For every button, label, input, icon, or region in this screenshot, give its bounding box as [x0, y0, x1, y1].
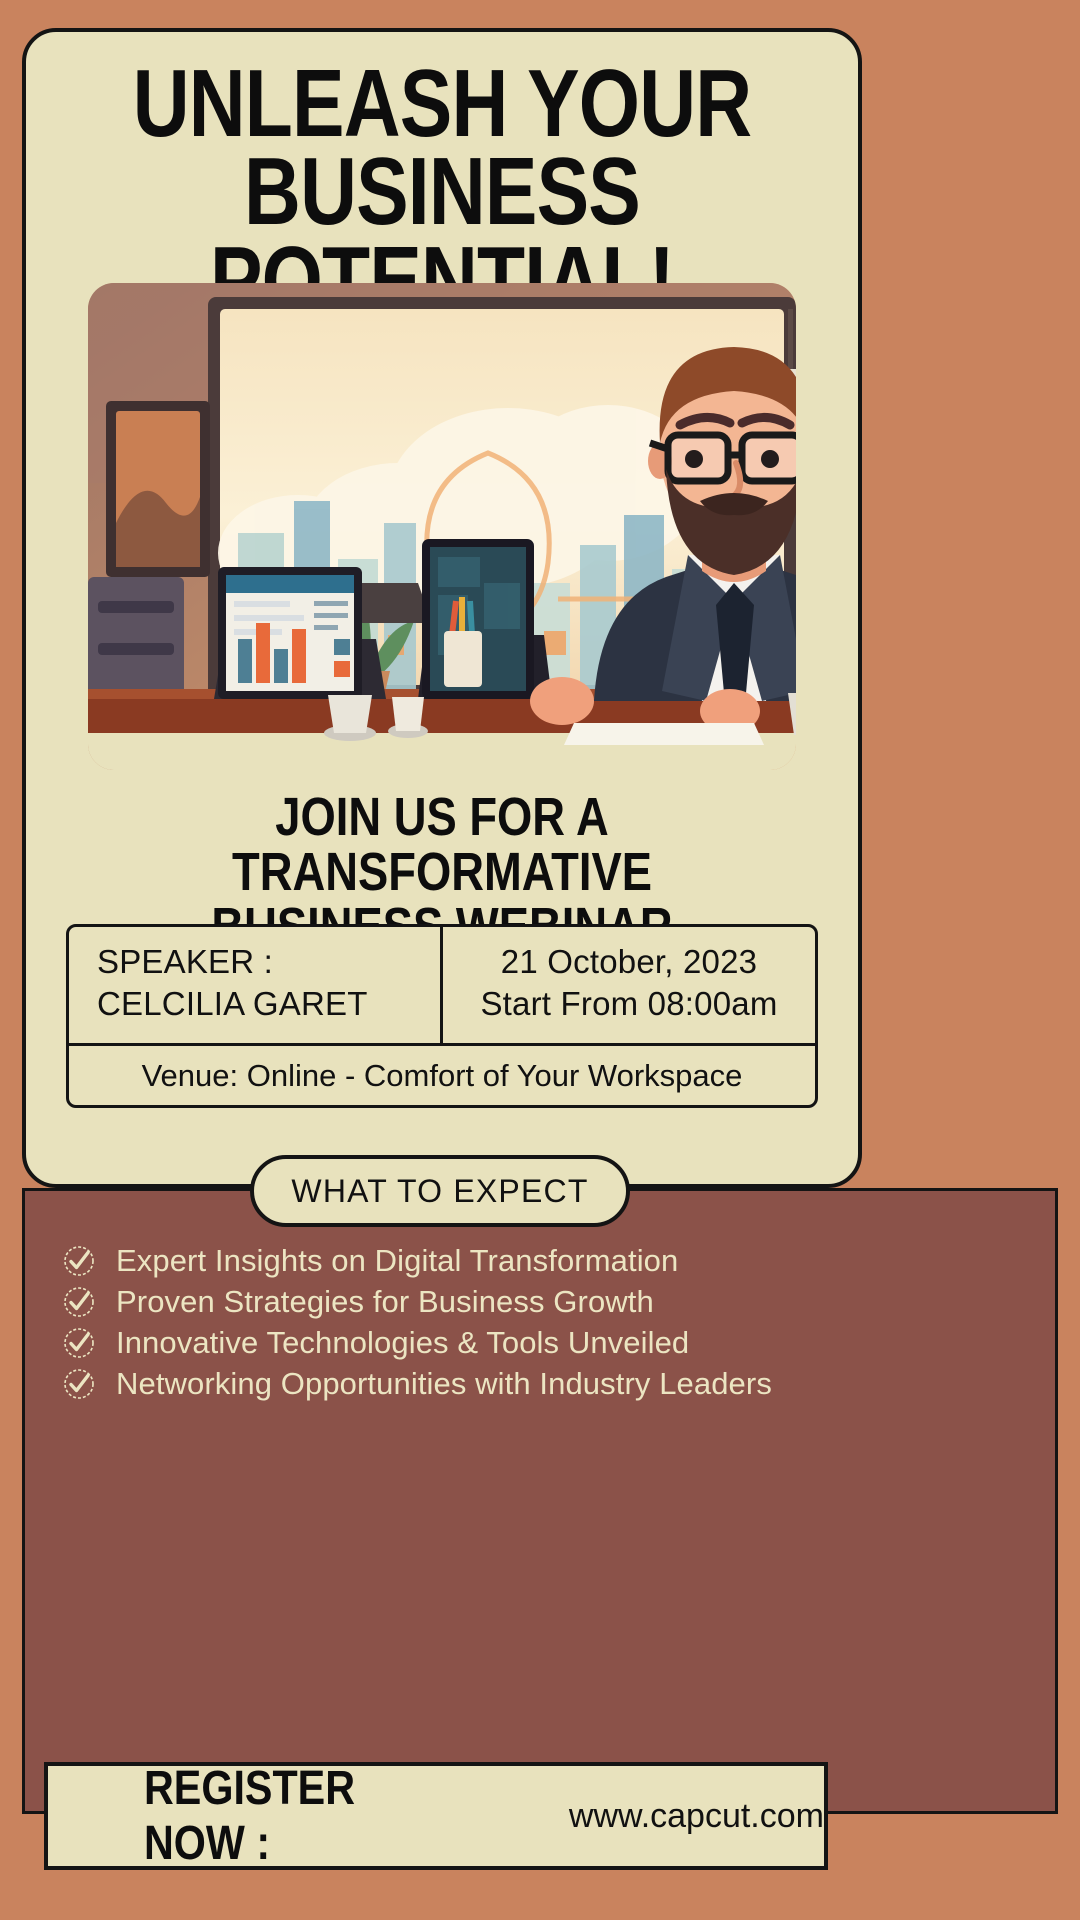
event-details-table: SPEAKER : CELCILIA GARET 21 October, 202… — [66, 924, 818, 1108]
what-to-expect-pill: WHAT TO EXPECT — [250, 1155, 630, 1227]
register-bar: REGISTER NOW : www.capcut.com — [44, 1762, 828, 1870]
headline-line-1: UNLEASH YOUR — [98, 60, 787, 148]
list-item-label: Expert Insights on Digital Transformatio… — [116, 1243, 678, 1279]
datetime-cell: 21 October, 2023 Start From 08:00am — [443, 927, 815, 1043]
list-item-label: Innovative Technologies & Tools Unveiled — [116, 1325, 689, 1361]
venue-text: Venue: Online - Comfort of Your Workspac… — [142, 1058, 743, 1094]
register-url[interactable]: www.capcut.com — [569, 1797, 824, 1836]
list-item: Innovative Technologies & Tools Unveiled — [62, 1322, 1022, 1363]
list-item: Expert Insights on Digital Transformatio… — [62, 1240, 1022, 1281]
event-date: 21 October, 2023 — [443, 941, 815, 983]
list-item: Proven Strategies for Business Growth — [62, 1281, 1022, 1322]
list-item-label: Networking Opportunities with Industry L… — [116, 1366, 772, 1402]
office-scene-icon — [88, 283, 796, 770]
list-item: Networking Opportunities with Industry L… — [62, 1363, 1022, 1404]
expect-list: Expert Insights on Digital Transformatio… — [62, 1240, 1022, 1404]
speaker-cell: SPEAKER : CELCILIA GARET — [69, 927, 443, 1043]
register-now-label: REGISTER NOW : — [144, 1761, 453, 1871]
list-item-label: Proven Strategies for Business Growth — [116, 1284, 654, 1320]
subtitle-line-1: JOIN US FOR A TRANSFORMATIVE — [89, 790, 795, 900]
speaker-name: CELCILIA GARET — [97, 983, 440, 1025]
check-circle-icon — [62, 1367, 96, 1401]
poster-root: UNLEASH YOUR BUSINESS POTENTIAL! — [0, 0, 1080, 1920]
speaker-label: SPEAKER : — [97, 941, 440, 983]
check-circle-icon — [62, 1326, 96, 1360]
event-time: Start From 08:00am — [443, 983, 815, 1025]
what-to-expect-label: WHAT TO EXPECT — [291, 1173, 588, 1210]
check-circle-icon — [62, 1244, 96, 1278]
check-circle-icon — [62, 1285, 96, 1319]
hero-illustration — [88, 283, 796, 770]
venue-row: Venue: Online - Comfort of Your Workspac… — [69, 1043, 815, 1105]
event-details-top-row: SPEAKER : CELCILIA GARET 21 October, 202… — [69, 927, 815, 1043]
